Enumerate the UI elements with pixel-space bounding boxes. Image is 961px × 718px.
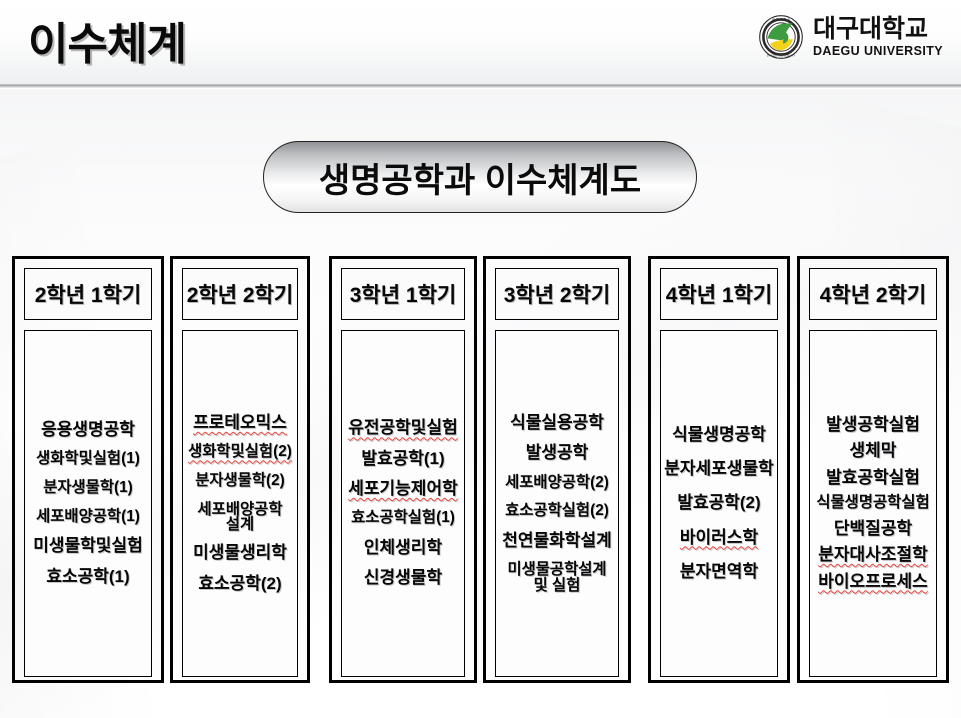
course-item: 분자생물학(2): [195, 472, 285, 491]
course-item: 세포배양공학(2): [505, 474, 609, 493]
course-item: 식물생명공학: [672, 425, 766, 445]
course-item: 발생공학실험: [826, 415, 920, 435]
diagram-title-pill: 생명공학과 이수체계도: [263, 141, 697, 213]
course-item: 세포배양공학설계: [198, 501, 283, 534]
semester-header-box: 3학년 2학기: [495, 268, 619, 320]
course-item: 단백질공학: [834, 519, 912, 539]
logo-korean-name: 대구대학교: [813, 17, 943, 42]
logo-wordmark: 대구대학교 DAEGU UNIVERSITY: [813, 17, 943, 58]
course-list: 프로테오믹스생화학및실험(2)분자생물학(2)세포배양공학설계미생물생리학효소공…: [182, 330, 298, 677]
course-item: 발생공학: [526, 443, 589, 463]
semester-header-label: 2학년 2학기: [187, 279, 293, 309]
course-item: 발효공학실험: [826, 468, 920, 488]
curriculum-columns: 2학년 1학기응용생명공학생화학및실험(1)분자생물학(1)세포배양공학(1)미…: [0, 256, 961, 686]
course-item: 식물생명공학실험: [816, 494, 929, 513]
course-item: 효소공학실험(1): [351, 509, 455, 528]
semester-header-box: 3학년 1학기: [341, 268, 465, 320]
course-item: 분자면역학: [680, 562, 758, 582]
logo-english-name: DAEGU UNIVERSITY: [813, 45, 943, 58]
semester-column-4: 3학년 2학기식물실용공학발생공학세포배양공학(2)효소공학실험(2)천연물화학…: [483, 256, 631, 683]
course-list: 유전공학및실험발효공학(1)세포기능제어학효소공학실험(1)인체생리학신경생물학: [341, 330, 465, 677]
course-item: 세포배양공학(1): [36, 508, 140, 527]
semester-column-6: 4학년 2학기발생공학실험생체막발효공학실험식물생명공학실험단백질공학분자대사조…: [797, 256, 949, 683]
slide-canvas: 이수체계 대 구 대 학 교 DAEGU UNIVERSITY 대구대학교 DA…: [0, 0, 961, 718]
semester-header-box: 2학년 1학기: [24, 268, 152, 320]
university-logo: 대 구 대 학 교 DAEGU UNIVERSITY 대구대학교 DAEGU U…: [758, 14, 943, 60]
course-item: 미생물학및실험: [33, 536, 142, 556]
semester-header-label: 4학년 2학기: [820, 279, 926, 309]
course-item: 효소공학실험(2): [505, 502, 609, 521]
daegu-university-emblem-icon: 대 구 대 학 교 DAEGU UNIVERSITY: [758, 14, 804, 60]
course-item: 신경생물학: [364, 568, 442, 588]
course-item: 발효공학(1): [361, 449, 444, 469]
svg-text:대 구 대 학 교: 대 구 대 학 교: [772, 16, 790, 21]
svg-text:DAEGU UNIVERSITY: DAEGU UNIVERSITY: [767, 53, 796, 57]
semester-header-label: 3학년 2학기: [504, 279, 610, 309]
course-item: 발효공학(2): [677, 493, 760, 513]
semester-header-label: 4학년 1학기: [666, 279, 772, 309]
diagram-title: 생명공학과 이수체계도: [319, 153, 641, 202]
page-title: 이수체계: [28, 8, 186, 72]
semester-column-5: 4학년 1학기식물생명공학분자세포생물학발효공학(2)바이러스학분자면역학: [648, 256, 790, 683]
semester-header-box: 4학년 2학기: [809, 268, 937, 320]
course-list: 식물생명공학분자세포생물학발효공학(2)바이러스학분자면역학: [660, 330, 778, 677]
semester-column-3: 3학년 1학기유전공학및실험발효공학(1)세포기능제어학효소공학실험(1)인체생…: [329, 256, 477, 683]
course-item: 미생물생리학: [193, 543, 287, 563]
course-item: 바이러스학: [680, 528, 758, 548]
course-item: 유전공학및실험: [348, 418, 457, 438]
semester-header-label: 2학년 1학기: [35, 279, 141, 309]
course-list: 식물실용공학발생공학세포배양공학(2)효소공학실험(2)천연물화학설계미생물공학…: [495, 330, 619, 677]
course-item: 바이오프로세스: [818, 572, 927, 592]
semester-column-1: 2학년 1학기응용생명공학생화학및실험(1)분자생물학(1)세포배양공학(1)미…: [12, 256, 164, 683]
course-item: 분자세포생물학: [664, 459, 773, 479]
course-list: 발생공학실험생체막발효공학실험식물생명공학실험단백질공학분자대사조절학바이오프로…: [809, 330, 937, 677]
course-item: 생화학및실험(2): [188, 443, 292, 462]
course-item: 효소공학(2): [198, 574, 281, 594]
course-item: 미생물공학설계및 실험: [507, 561, 606, 594]
course-item: 인체생리학: [364, 538, 442, 558]
course-item: 응용생명공학: [41, 420, 135, 440]
course-item: 생화학및실험(1): [36, 450, 140, 469]
course-item: 식물실용공학: [510, 413, 604, 433]
semester-column-2: 2학년 2학기프로테오믹스생화학및실험(2)분자생물학(2)세포배양공학설계미생…: [170, 256, 310, 683]
semester-header-box: 2학년 2학기: [182, 268, 298, 320]
course-item: 세포기능제어학: [348, 479, 457, 499]
course-item: 천연물화학설계: [502, 531, 611, 551]
header-divider-highlight: [0, 88, 961, 91]
course-item: 효소공학(1): [46, 567, 129, 587]
semester-header-box: 4학년 1학기: [660, 268, 778, 320]
semester-header-label: 3학년 1학기: [350, 279, 456, 309]
course-list: 응용생명공학생화학및실험(1)분자생물학(1)세포배양공학(1)미생물학및실험효…: [24, 330, 152, 677]
course-item: 분자생물학(1): [43, 479, 133, 498]
course-item: 분자대사조절학: [818, 545, 927, 565]
course-item: 생체막: [850, 441, 897, 461]
course-item: 프로테오믹스: [193, 413, 287, 433]
